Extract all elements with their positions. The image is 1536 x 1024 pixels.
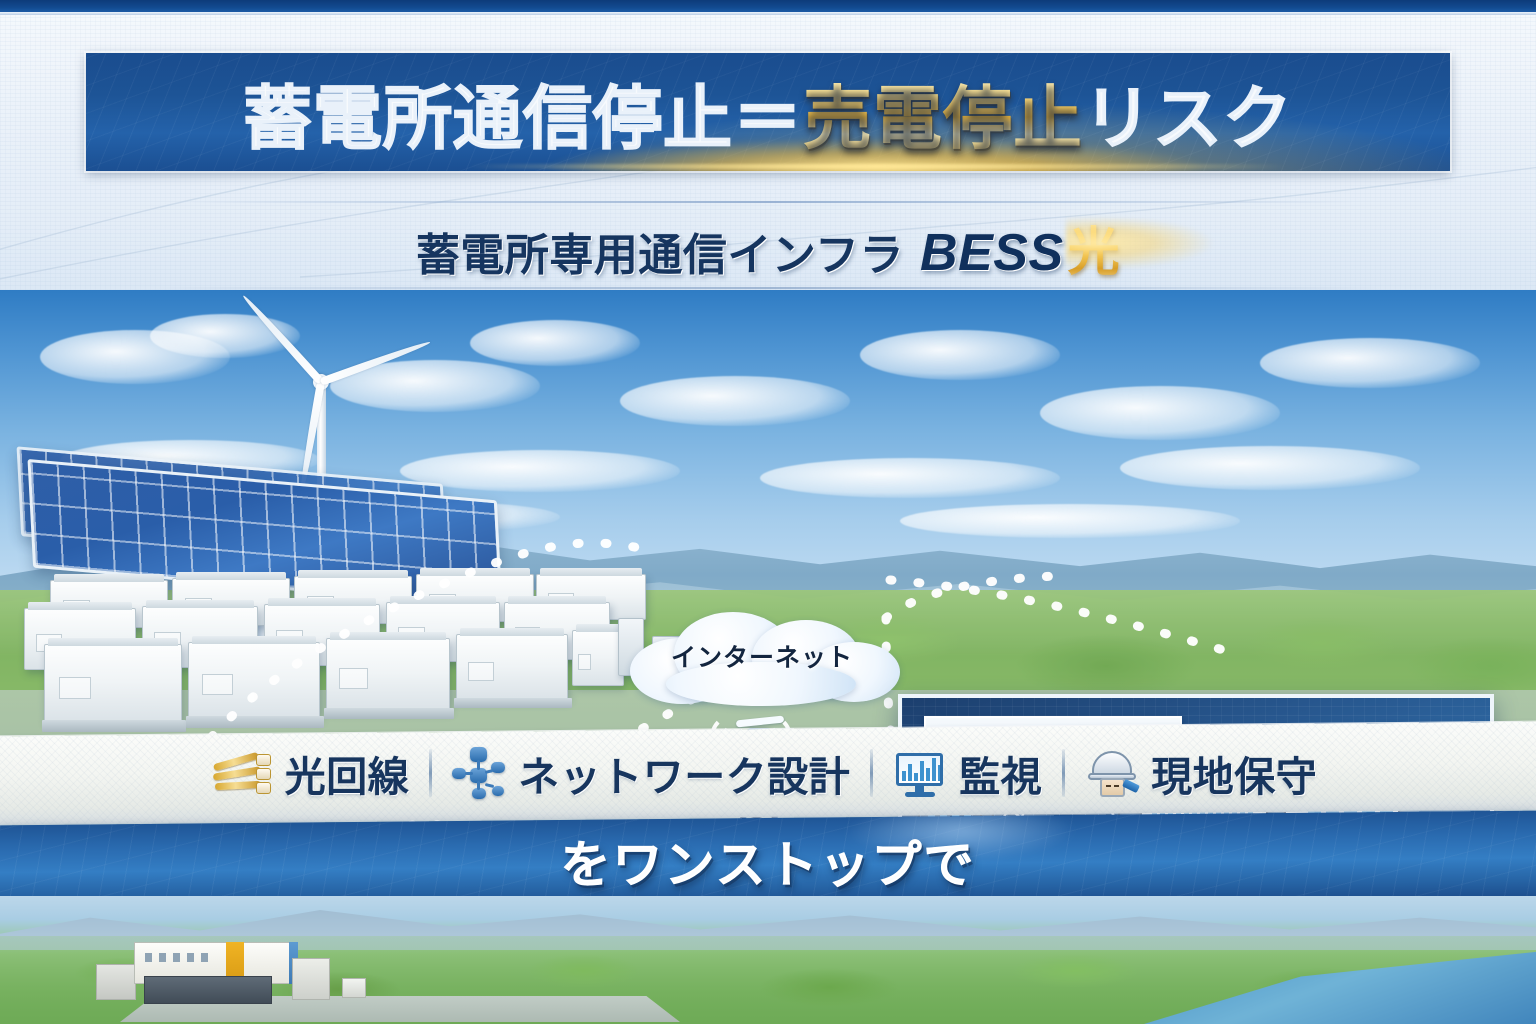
feature-bar: 光回線 ネットワーク設計 (0, 722, 1536, 825)
container-plinth (186, 716, 324, 728)
subtitle-wrapper: 蓄電所専用通信インフラ BESS 光 (0, 211, 1536, 283)
facility-equipment-block (144, 976, 272, 1004)
substation-facility (86, 942, 356, 1012)
brand-name: BESS (920, 223, 1064, 283)
headline-band: 蓄電所通信停止＝ 売電停止 リスク (86, 53, 1450, 171)
feature-label-network-design: ネットワーク設計 (518, 743, 850, 803)
bottom-landscape (0, 896, 1536, 1024)
top-accent-bar (0, 0, 1536, 12)
headline-white-prefix: 蓄電所通信停止＝ (243, 62, 803, 162)
feature-item-onsite-maintenance[interactable]: 現地保守 (1065, 743, 1337, 803)
feature-item-network-design[interactable]: ネットワーク設計 (432, 743, 870, 803)
feature-label-monitoring: 監視 (959, 743, 1042, 803)
onestop-inner: をワンストップで (0, 818, 1536, 904)
bess-container (44, 644, 182, 722)
headline-text: 蓄電所通信停止＝ 売電停止 リスク (86, 53, 1450, 171)
internet-cloud: インターネット (612, 608, 912, 708)
hardhat-worker-icon (1085, 746, 1139, 800)
onestop-text: をワンストップで (561, 825, 976, 897)
fiber-cable-icon (219, 746, 273, 800)
monitor-chart-icon (893, 746, 947, 800)
network-topology-icon (452, 746, 506, 800)
container-plinth (454, 698, 572, 708)
subtitle-rule-top (180, 201, 1356, 203)
cloud-label: インターネット (612, 638, 912, 674)
brand-flare (1066, 216, 1216, 270)
poster-root: 蓄電所通信停止＝ 売電停止 リスク 蓄電所専用通信インフラ BESS 光 (0, 0, 1536, 1024)
bess-container (188, 642, 320, 718)
container-plinth (324, 708, 454, 719)
headline-gold-part: 売電停止 (803, 62, 1083, 162)
headline-white-suffix: リスク (1083, 62, 1293, 162)
subtitle-rule-bottom (150, 287, 1386, 289)
bess-container (326, 638, 450, 710)
subtitle: 蓄電所専用通信インフラ BESS 光 (416, 210, 1120, 285)
facility-outbuilding (342, 978, 366, 998)
feature-label-onsite-maintenance: 現地保守 (1151, 743, 1317, 803)
feature-item-fiber[interactable]: 光回線 (199, 743, 430, 803)
feature-list: 光回線 ネットワーク設計 (0, 729, 1536, 817)
facility-side-block (96, 964, 136, 1000)
feature-label-fiber: 光回線 (285, 743, 410, 803)
facility-wing (292, 958, 330, 1000)
bess-container (456, 634, 568, 700)
subtitle-lead: 蓄電所専用通信インフラ (416, 219, 904, 283)
feature-item-monitoring[interactable]: 監視 (873, 743, 1062, 803)
header-section: 蓄電所通信停止＝ 売電停止 リスク 蓄電所専用通信インフラ BESS 光 (0, 15, 1536, 290)
